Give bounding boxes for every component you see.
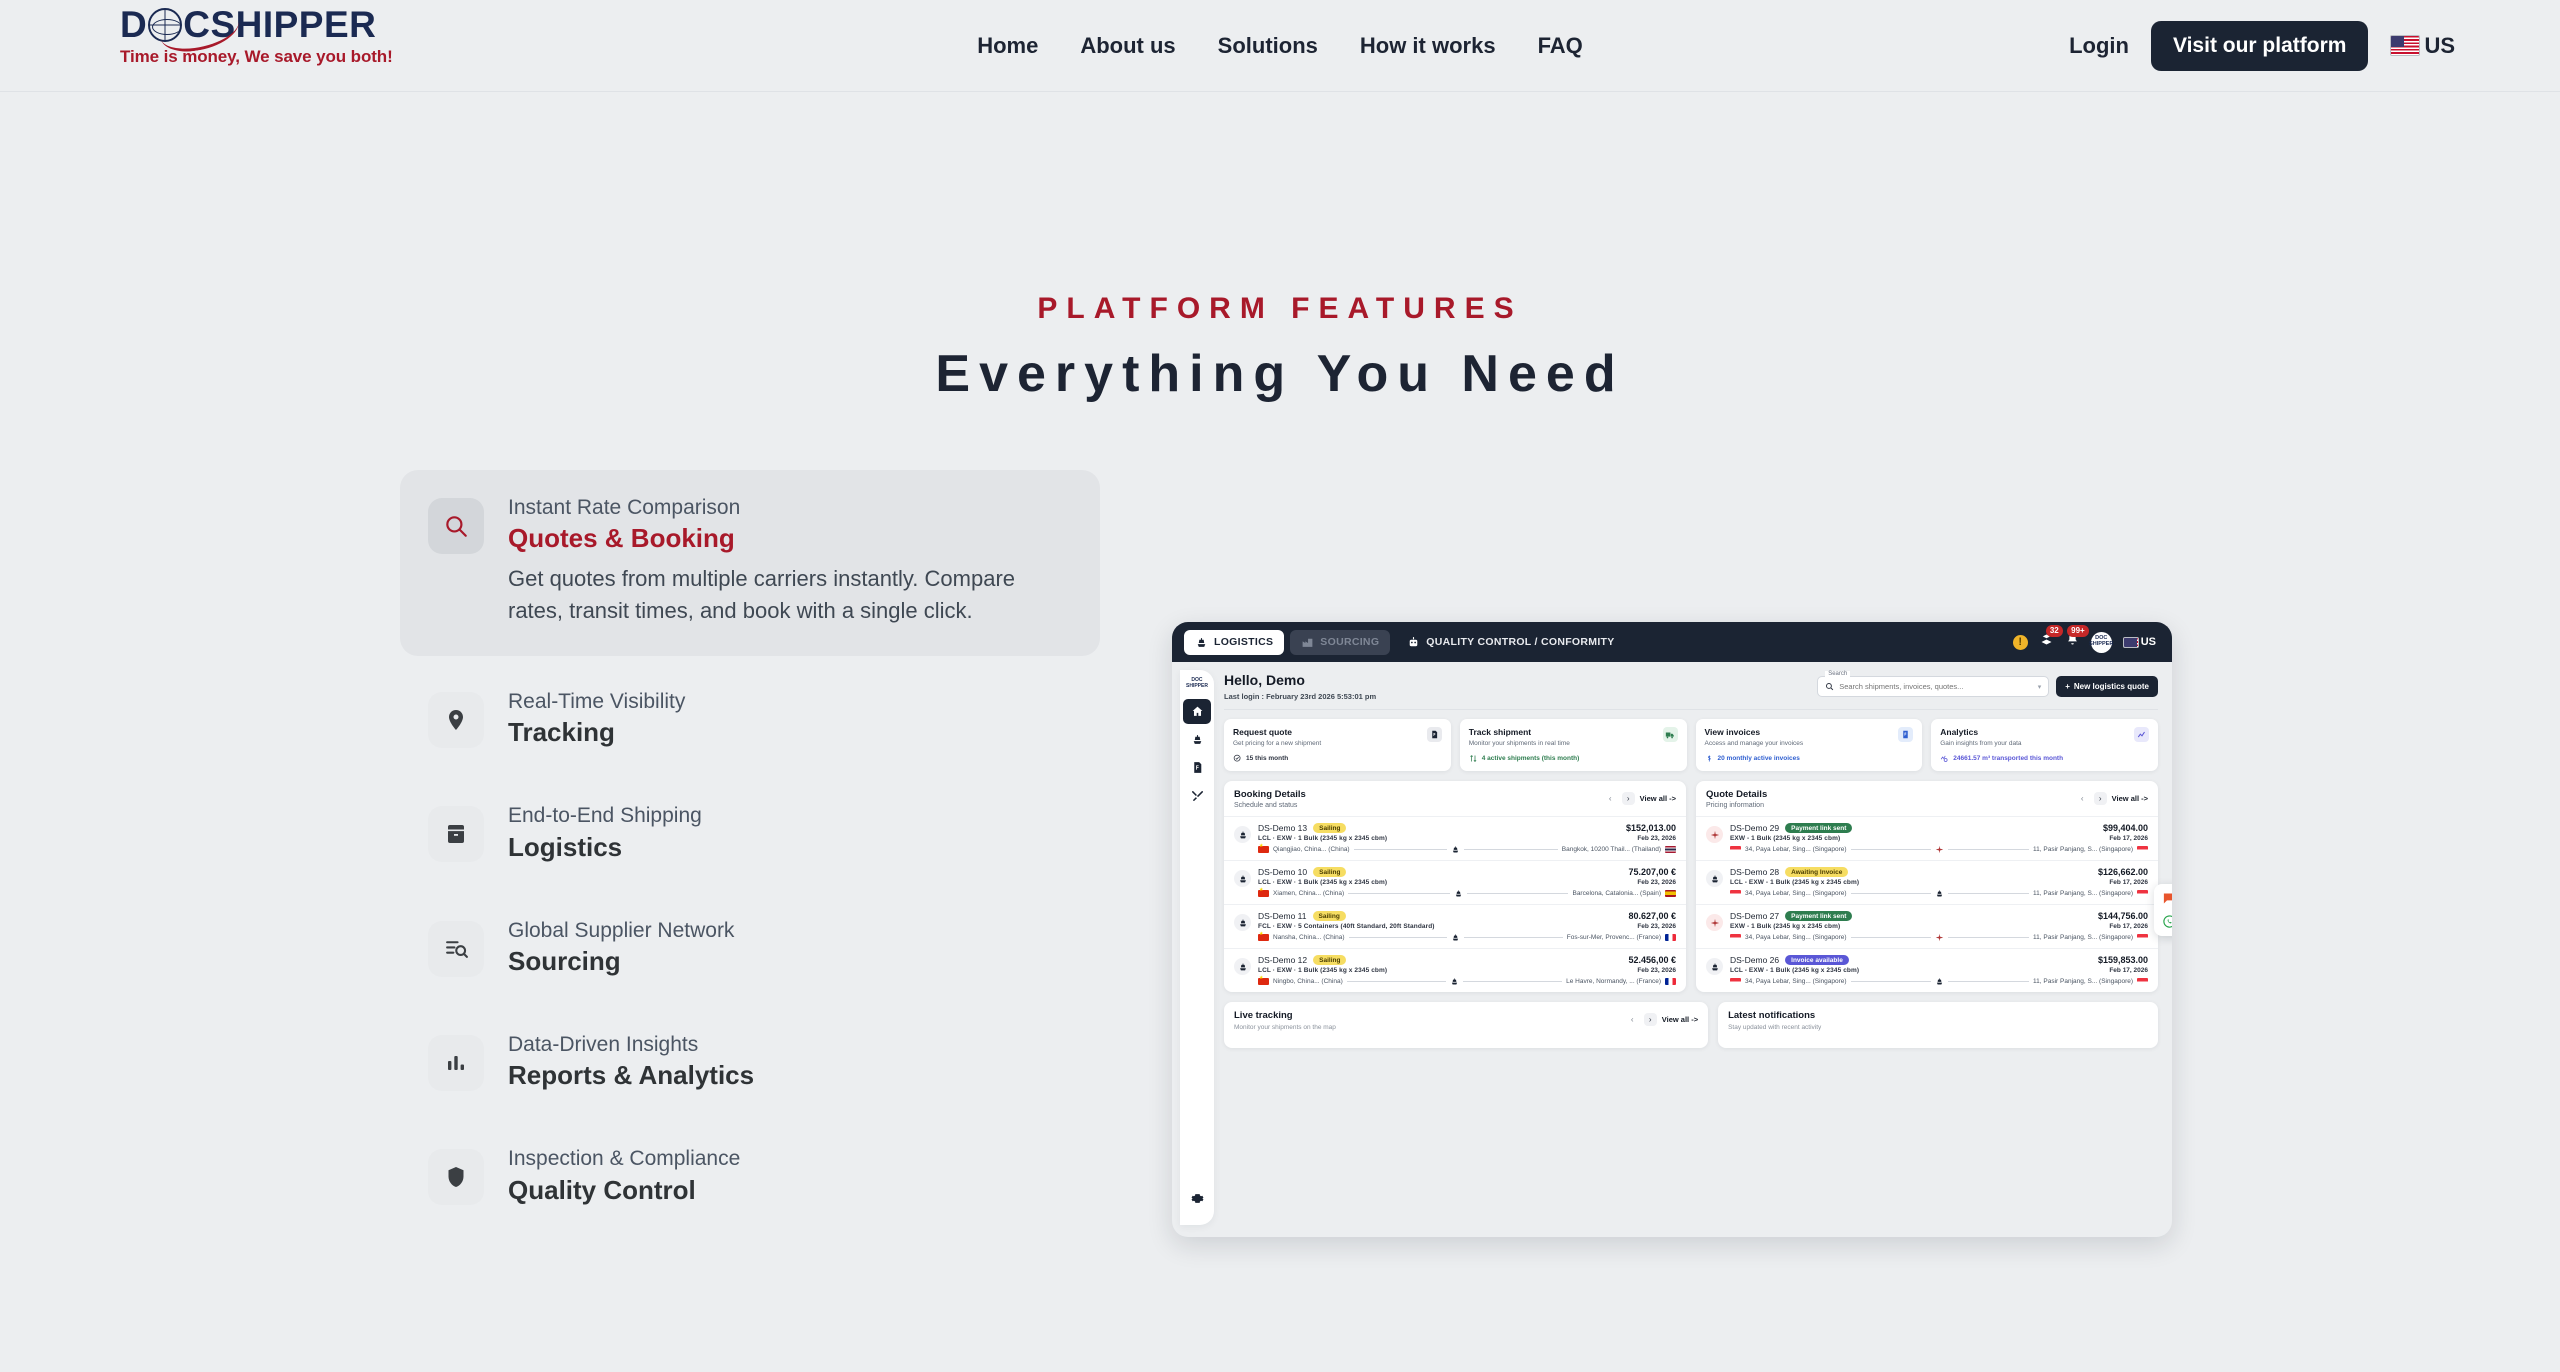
route-line: [1467, 893, 1569, 894]
badge-count: 32: [2046, 625, 2063, 637]
bar-chart-icon: [428, 1035, 484, 1091]
section-eyebrow: PLATFORM FEATURES: [0, 292, 2560, 326]
prev-arrow-icon[interactable]: ‹: [2076, 792, 2089, 805]
booking-date: Feb 23, 2026: [1637, 835, 1676, 842]
sidebar-item-shipments[interactable]: [1183, 727, 1211, 752]
invoice-blue-icon: [1898, 727, 1913, 742]
status-badge: Invoice available: [1785, 955, 1849, 965]
search-input[interactable]: [1839, 682, 2032, 691]
origin-flag-icon: [1730, 934, 1741, 942]
list-search-icon: [428, 921, 484, 977]
quote-meta: EXW - 1 Bulk (2345 kg x 2345 cbm): [1730, 835, 1840, 842]
booking-id: DS-Demo 12: [1258, 955, 1307, 965]
booking-date: Feb 23, 2026: [1637, 879, 1676, 886]
destination-flag-icon: [2137, 934, 2148, 942]
plus-icon: +: [2065, 682, 2070, 691]
dashboard-tab-sourcing[interactable]: SOURCING: [1290, 630, 1390, 655]
latest-notifications-panel: Latest notifications Stay updated with r…: [1718, 1002, 2158, 1048]
booking-id: DS-Demo 11: [1258, 911, 1307, 921]
quote-row[interactable]: DS-Demo 27 Payment link sent $144,756.00…: [1696, 904, 2158, 948]
destination-text: Barcelona, Catalonia... (Spain): [1572, 890, 1661, 897]
next-arrow-icon[interactable]: ›: [2094, 792, 2107, 805]
card-stat: 20 monthly active invoices: [1705, 754, 1914, 763]
plane-icon: [1935, 933, 1944, 942]
ship-icon: [1234, 958, 1251, 975]
page-title: Everything You Need: [0, 344, 2560, 404]
search-box[interactable]: Search ▾: [1817, 676, 2049, 697]
origin-text: 34, Paya Lebar, Sing... (Singapore): [1745, 934, 1847, 941]
quote-meta: EXW - 1 Bulk (2345 kg x 2345 cbm): [1730, 923, 1840, 930]
bottom-panels: Live tracking Monitor your shipments on …: [1224, 1002, 2158, 1048]
tools-icon: [1191, 789, 1204, 802]
card-title: View invoices: [1705, 727, 1804, 737]
feature-title: Tracking: [508, 717, 685, 748]
route-line: [1948, 893, 2029, 894]
tab-label: SOURCING: [1320, 636, 1379, 648]
dashboard-body: DOC SHIPPER: [1172, 662, 2172, 1237]
panel-title: Quote Details: [1706, 789, 1767, 800]
site-header: D CSHIPPER Time is money, We save you bo…: [0, 0, 2560, 92]
quote-date: Feb 17, 2026: [2109, 835, 2148, 842]
ship-icon: [1454, 889, 1463, 898]
destination-text: Bangkok, 10200 Thail... (Thailand): [1562, 846, 1661, 853]
dashboard-topbar: LOGISTICS SOURCING QUALITY CONTROL / CON…: [1172, 622, 2172, 662]
booking-date: Feb 23, 2026: [1637, 967, 1676, 974]
action-card-analytics[interactable]: Analytics Gain insights from your data 2…: [1931, 719, 2158, 771]
feature-title: Logistics: [508, 832, 702, 863]
card-stat: 24661.57 m³ transported this month: [1940, 754, 2149, 763]
quote-meta: LCL - EXW - 1 Bulk (2345 kg x 2345 cbm): [1730, 879, 1859, 886]
destination-flag-icon: [2137, 846, 2148, 854]
card-subtitle: Gain insights from your data: [1940, 740, 2021, 747]
quote-date: Feb 17, 2026: [2109, 923, 2148, 930]
feature-item-sourcing[interactable]: Global Supplier Network Sourcing: [400, 893, 1100, 999]
avatar[interactable]: DOC SHIPPER: [2091, 632, 2112, 653]
booking-meta: LCL · EXW · 1 Bulk (2345 kg x 2345 cbm): [1258, 879, 1387, 886]
greeting-title: Hello, Demo: [1224, 672, 1376, 688]
action-card-track-shipment[interactable]: Track shipment Monitor your shipments in…: [1460, 719, 1687, 771]
origin-flag-icon: [1258, 934, 1269, 942]
shield-icon: [428, 1149, 484, 1205]
card-stat-text: 15 this month: [1246, 755, 1288, 762]
booking-row[interactable]: DS-Demo 11 Sailing 80.627,00 € FCL · EXW…: [1224, 904, 1686, 948]
destination-flag-icon: [1665, 934, 1676, 942]
sidebar-item-invoices[interactable]: [1183, 755, 1211, 780]
origin-flag-icon: [1730, 890, 1741, 898]
route-line: [1851, 893, 1932, 894]
quote-date: Feb 17, 2026: [2109, 967, 2148, 974]
route-line: [1354, 849, 1448, 850]
prev-arrow-icon[interactable]: ‹: [1604, 792, 1617, 805]
search-icon: [428, 498, 484, 554]
nav-item-about-us[interactable]: About us: [1080, 33, 1175, 59]
booking-id: DS-Demo 13: [1258, 823, 1307, 833]
next-arrow-icon[interactable]: ›: [1644, 1013, 1657, 1026]
robot-icon: [1407, 636, 1420, 649]
ship-icon: [1234, 870, 1251, 887]
feature-title: Quality Control: [508, 1175, 740, 1206]
alert-icon[interactable]: !: [2013, 635, 2028, 650]
greeting-row: Hello, Demo Last login : February 23rd 2…: [1224, 672, 2158, 701]
dashboard-tab-logistics[interactable]: LOGISTICS: [1184, 630, 1284, 655]
locale-selector[interactable]: US: [2390, 33, 2455, 59]
destination-flag-icon: [2137, 978, 2148, 986]
arrows-updown-icon: [1469, 754, 1478, 763]
route-line: [1948, 937, 2029, 938]
panel-title: Latest notifications: [1728, 1010, 1821, 1021]
origin-text: Xiamen, China... (China): [1273, 890, 1344, 897]
logo-text-d: D: [120, 6, 147, 45]
booking-meta: FCL · EXW · 5 Containers (40ft Standard,…: [1258, 923, 1435, 930]
origin-flag-icon: [1730, 846, 1741, 854]
destination-flag-icon: [2137, 890, 2148, 898]
analytics-search-icon: [1940, 754, 1949, 763]
destination-text: 11, Pasir Panjang, S... (Singapore): [2033, 890, 2133, 897]
nav-item-how-it-works[interactable]: How it works: [1360, 33, 1496, 59]
panel-subtitle: Monitor your shipments on the map: [1234, 1024, 1336, 1031]
logo-text-rest: CSHIPPER: [183, 6, 376, 45]
view-all-bookings-link[interactable]: View all ->: [1640, 794, 1676, 803]
destination-text: 11, Pasir Panjang, S... (Singapore): [2033, 934, 2133, 941]
dashboard-preview: LOGISTICS SOURCING QUALITY CONTROL / CON…: [1172, 622, 2172, 1237]
document-check-icon[interactable]: 32: [2039, 632, 2054, 652]
route-line: [1464, 849, 1558, 850]
action-card-request-quote[interactable]: Request quote Get pricing for a new ship…: [1224, 719, 1451, 771]
factory-icon: [1301, 636, 1314, 649]
view-all-quotes-link[interactable]: View all ->: [2112, 794, 2148, 803]
card-stat-text: 24661.57 m³ transported this month: [1953, 755, 2063, 762]
route-line: [1347, 981, 1446, 982]
home-icon: [1191, 705, 1204, 718]
card-subtitle: Access and manage your invoices: [1705, 740, 1804, 747]
quote-details-panel: Quote Details Pricing information ‹ › Vi…: [1696, 781, 2158, 992]
quote-row[interactable]: DS-Demo 29 Payment link sent $99,404.00 …: [1696, 816, 2158, 860]
origin-flag-icon: [1730, 978, 1741, 986]
view-all-tracking-link[interactable]: View all ->: [1662, 1015, 1698, 1024]
card-stat: 15 this month: [1233, 754, 1442, 763]
booking-meta: LCL · EXW · 1 Bulk (2345 kg x 2345 cbm): [1258, 835, 1387, 842]
main-navigation: Home About us Solutions How it works FAQ: [977, 33, 1583, 59]
feature-subtitle: Instant Rate Comparison: [508, 494, 1072, 522]
plane-icon: [1935, 845, 1944, 854]
sidebar-logo-line-2: SHIPPER: [1186, 684, 1208, 690]
chevron-down-icon[interactable]: ▾: [2038, 683, 2042, 691]
quote-id: DS-Demo 28: [1730, 867, 1779, 877]
detail-panels: Booking Details Schedule and status ‹ › …: [1224, 781, 2158, 992]
booking-price: $152,013.00: [1626, 823, 1676, 833]
header-actions: Login Visit our platform US: [2069, 21, 2455, 71]
origin-text: 34, Paya Lebar, Sing... (Singapore): [1745, 846, 1847, 853]
plane-icon: [1706, 826, 1723, 843]
gear-icon: [1191, 1192, 1204, 1205]
destination-text: 11, Pasir Panjang, S... (Singapore): [2033, 846, 2133, 853]
login-link[interactable]: Login: [2069, 33, 2129, 59]
tab-label: LOGISTICS: [1214, 636, 1273, 648]
status-badge: Sailing: [1313, 911, 1346, 921]
card-title: Track shipment: [1469, 727, 1570, 737]
panel-subtitle: Pricing information: [1706, 802, 1767, 809]
avatar-line-2: SHIPPER: [2089, 642, 2113, 648]
prev-arrow-icon[interactable]: ‹: [1626, 1013, 1639, 1026]
ship-icon: [1935, 977, 1944, 986]
card-stat-text: 4 active shipments (this month): [1482, 755, 1580, 762]
search-label: Search: [1825, 671, 1850, 677]
dashboard-topbar-actions: ! 32 99+ DOC SHIPPER US: [2013, 632, 2160, 653]
destination-flag-icon: [1665, 846, 1676, 854]
booking-meta: LCL · EXW · 1 Bulk (2345 kg x 2345 cbm): [1258, 967, 1387, 974]
quote-id: DS-Demo 26: [1730, 955, 1779, 965]
panel-subtitle: Schedule and status: [1234, 802, 1306, 809]
origin-flag-icon: [1258, 890, 1269, 898]
status-badge: Sailing: [1313, 955, 1346, 965]
destination-flag-icon: [1665, 890, 1676, 898]
booking-price: 75.207,00 €: [1628, 867, 1676, 877]
booking-details-panel: Booking Details Schedule and status ‹ › …: [1224, 781, 1686, 992]
origin-text: 34, Paya Lebar, Sing... (Singapore): [1745, 890, 1847, 897]
route-line: [1348, 893, 1450, 894]
ship-icon: [1195, 636, 1208, 649]
quote-row[interactable]: DS-Demo 26 Invoice available $159,853.00…: [1696, 948, 2158, 992]
check-circle-icon: [1233, 754, 1242, 763]
card-subtitle: Monitor your shipments in real time: [1469, 740, 1570, 747]
card-stat-text: 20 monthly active invoices: [1718, 755, 1800, 762]
booking-row[interactable]: DS-Demo 10 Sailing 75.207,00 € LCL · EXW…: [1224, 860, 1686, 904]
feature-subtitle: End-to-End Shipping: [508, 802, 702, 830]
plane-icon: [1706, 914, 1723, 931]
dashboard-tab-quality-control[interactable]: QUALITY CONTROL / CONFORMITY: [1396, 630, 1625, 655]
quote-document-icon: [1427, 727, 1442, 742]
nav-item-solutions[interactable]: Solutions: [1218, 33, 1318, 59]
locale-label: US: [2424, 33, 2455, 59]
destination-text: 11, Pasir Panjang, S... (Singapore): [2033, 978, 2133, 985]
panel-title: Booking Details: [1234, 789, 1306, 800]
status-badge: Sailing: [1313, 823, 1346, 833]
chat-icon[interactable]: [2162, 891, 2173, 906]
logo-tagline: Time is money, We save you both!: [120, 47, 393, 67]
feature-list: Instant Rate Comparison Quotes & Booking…: [400, 470, 1100, 1236]
status-badge: Payment link sent: [1785, 911, 1852, 921]
ship-icon: [1234, 914, 1251, 931]
booking-price: 80.627,00 €: [1628, 911, 1676, 921]
invoice-icon: [1191, 761, 1204, 774]
card-title: Analytics: [1940, 727, 2021, 737]
bell-icon[interactable]: 99+: [2065, 632, 2080, 652]
feature-item-quotes-booking[interactable]: Instant Rate Comparison Quotes & Booking…: [400, 470, 1100, 656]
route-line: [1948, 849, 2029, 850]
sidebar-item-settings[interactable]: [1183, 1186, 1211, 1211]
quote-id: DS-Demo 29: [1730, 823, 1779, 833]
feature-title: Sourcing: [508, 946, 734, 977]
new-quote-label: New logistics quote: [2074, 682, 2149, 691]
search-icon: [1825, 682, 1834, 691]
panel-subtitle: Stay updated with recent activity: [1728, 1024, 1821, 1031]
feature-title: Reports & Analytics: [508, 1060, 754, 1091]
route-line: [1851, 849, 1932, 850]
new-logistics-quote-button[interactable]: + New logistics quote: [2056, 676, 2158, 697]
status-badge: Sailing: [1313, 867, 1346, 877]
visit-platform-button[interactable]: Visit our platform: [2151, 21, 2368, 71]
booking-id: DS-Demo 10: [1258, 867, 1307, 877]
origin-flag-icon: [1258, 846, 1269, 854]
ship-icon: [1234, 826, 1251, 843]
route-line: [1948, 981, 2029, 982]
card-subtitle: Get pricing for a new shipment: [1233, 740, 1321, 747]
site-logo[interactable]: D CSHIPPER Time is money, We save you bo…: [120, 6, 393, 67]
route-line: [1463, 981, 1562, 982]
ship-icon: [1451, 933, 1460, 942]
origin-text: Ningbo, China... (China): [1273, 978, 1343, 985]
quote-row[interactable]: DS-Demo 28 Awaiting Invoice $126,662.00 …: [1696, 860, 2158, 904]
feature-item-logistics[interactable]: End-to-End Shipping Logistics: [400, 778, 1100, 884]
destination-text: Fos-sur-Mer, Provenc... (France): [1567, 934, 1661, 941]
destination-flag-icon: [1665, 978, 1676, 986]
quote-price: $159,853.00: [2098, 955, 2148, 965]
last-login-text: Last login : February 23rd 2026 5:53:01 …: [1224, 692, 1376, 701]
feature-item-tracking[interactable]: Real-Time Visibility Tracking: [400, 664, 1100, 770]
us-flag-icon: [2123, 637, 2139, 648]
quote-price: $99,404.00: [2103, 823, 2148, 833]
feature-subtitle: Real-Time Visibility: [508, 688, 685, 716]
ship-icon: [1935, 889, 1944, 898]
dollar-icon: [1705, 754, 1714, 763]
feature-subtitle: Inspection & Compliance: [508, 1145, 740, 1173]
ship-icon: [1451, 845, 1460, 854]
quote-meta: LCL - EXW - 1 Bulk (2345 kg x 2345 cbm): [1730, 967, 1859, 974]
panel-title: Live tracking: [1234, 1010, 1336, 1021]
feature-title: Quotes & Booking: [508, 523, 1072, 554]
feature-description: Get quotes from multiple carriers instan…: [508, 563, 1072, 625]
sidebar-item-tools[interactable]: [1183, 783, 1211, 808]
origin-text: 34, Paya Lebar, Sing... (Singapore): [1745, 978, 1847, 985]
action-card-view-invoices[interactable]: View invoices Access and manage your inv…: [1696, 719, 1923, 771]
nav-item-home[interactable]: Home: [977, 33, 1038, 59]
truck-icon: [1663, 727, 1678, 742]
feature-item-reports-analytics[interactable]: Data-Driven Insights Reports & Analytics: [400, 1007, 1100, 1113]
quote-price: $126,662.00: [2098, 867, 2148, 877]
dashboard-locale-label: US: [2141, 636, 2156, 648]
quote-id: DS-Demo 27: [1730, 911, 1779, 921]
us-flag-icon: [2390, 35, 2420, 56]
ship-icon: [1450, 977, 1459, 986]
origin-flag-icon: [1258, 978, 1269, 986]
ship-icon: [1706, 870, 1723, 887]
sidebar-item-home[interactable]: [1183, 699, 1211, 724]
feature-subtitle: Global Supplier Network: [508, 917, 734, 945]
quote-date: Feb 17, 2026: [2109, 879, 2148, 886]
origin-text: Nansha, China... (China): [1273, 934, 1345, 941]
status-badge: Awaiting Invoice: [1785, 867, 1848, 877]
divider: [1224, 709, 2158, 710]
route-line: [1851, 981, 1932, 982]
ship-icon: [1191, 733, 1204, 746]
destination-text: Le Havre, Normandy, ... (France): [1566, 978, 1661, 985]
live-tracking-panel: Live tracking Monitor your shipments on …: [1224, 1002, 1708, 1048]
tab-label: QUALITY CONTROL / CONFORMITY: [1426, 636, 1614, 648]
whatsapp-icon[interactable]: [2162, 914, 2173, 929]
booking-date: Feb 23, 2026: [1637, 923, 1676, 930]
card-title: Request quote: [1233, 727, 1321, 737]
booking-price: 52.456,00 €: [1628, 955, 1676, 965]
route-line: [1464, 937, 1563, 938]
dashboard-locale-selector[interactable]: US: [2123, 636, 2156, 648]
action-cards: Request quote Get pricing for a new ship…: [1224, 719, 2158, 771]
logo-wordmark: D CSHIPPER: [120, 6, 393, 45]
floating-chat-widget: [2154, 884, 2172, 936]
sidebar-logo[interactable]: DOC SHIPPER: [1186, 678, 1208, 689]
dashboard-main: Hello, Demo Last login : February 23rd 2…: [1214, 662, 2172, 1237]
trend-up-icon: [2134, 727, 2149, 742]
map-pin-icon: [428, 692, 484, 748]
feature-subtitle: Data-Driven Insights: [508, 1031, 754, 1059]
next-arrow-icon[interactable]: ›: [1622, 792, 1635, 805]
card-stat: 4 active shipments (this month): [1469, 754, 1678, 763]
quote-price: $144,756.00: [2098, 911, 2148, 921]
feature-item-quality-control[interactable]: Inspection & Compliance Quality Control: [400, 1121, 1100, 1227]
origin-text: Qiangjiao, China... (China): [1273, 846, 1350, 853]
badge-count: 99+: [2067, 625, 2089, 637]
dashboard-sidebar: DOC SHIPPER: [1180, 670, 1214, 1225]
status-badge: Payment link sent: [1785, 823, 1852, 833]
route-line: [1349, 937, 1448, 938]
booking-row[interactable]: DS-Demo 13 Sailing $152,013.00 LCL · EXW…: [1224, 816, 1686, 860]
booking-row[interactable]: DS-Demo 12 Sailing 52.456,00 € LCL · EXW…: [1224, 948, 1686, 992]
nav-item-faq[interactable]: FAQ: [1538, 33, 1583, 59]
ship-icon: [1706, 958, 1723, 975]
globe-icon: [148, 8, 182, 42]
box-icon: [428, 806, 484, 862]
route-line: [1851, 937, 1932, 938]
